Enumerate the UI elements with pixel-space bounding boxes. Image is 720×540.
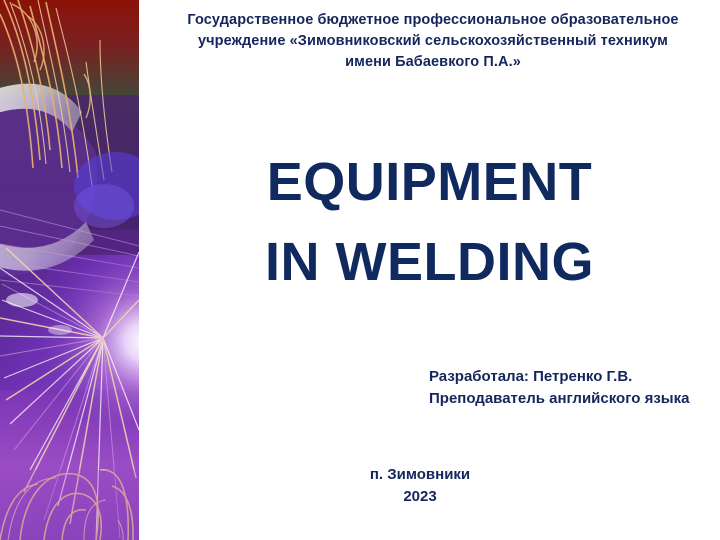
institution-header-line-2: учреждение «Зимовниковский сельскохозяйс… [152,31,714,52]
author-credit: Разработала: Петренко Г.В. Преподаватель… [429,366,689,410]
welding-sparks-illustration [0,0,139,540]
institution-header-line-3: имени Бабаевкого П.А.» [152,52,714,73]
institution-header: Государственное бюджетное профессиональн… [152,10,714,73]
footer-year: 2023 [139,486,701,508]
welding-sparks-photo [0,0,139,540]
slide-title: EQUIPMENT IN WELDING [139,142,720,302]
presentation-title-slide: Государственное бюджетное профессиональн… [0,0,720,540]
institution-header-line-1: Государственное бюджетное профессиональн… [152,10,714,31]
slide-title-line-2: IN WELDING [139,222,720,302]
author-name: Разработала: Петренко Г.В. [429,366,689,388]
footer-place: п. Зимовники [139,464,701,486]
slide-footer: п. Зимовники 2023 [139,464,701,508]
author-role: Преподаватель английского языка [429,388,689,410]
slide-title-line-1: EQUIPMENT [139,142,720,222]
